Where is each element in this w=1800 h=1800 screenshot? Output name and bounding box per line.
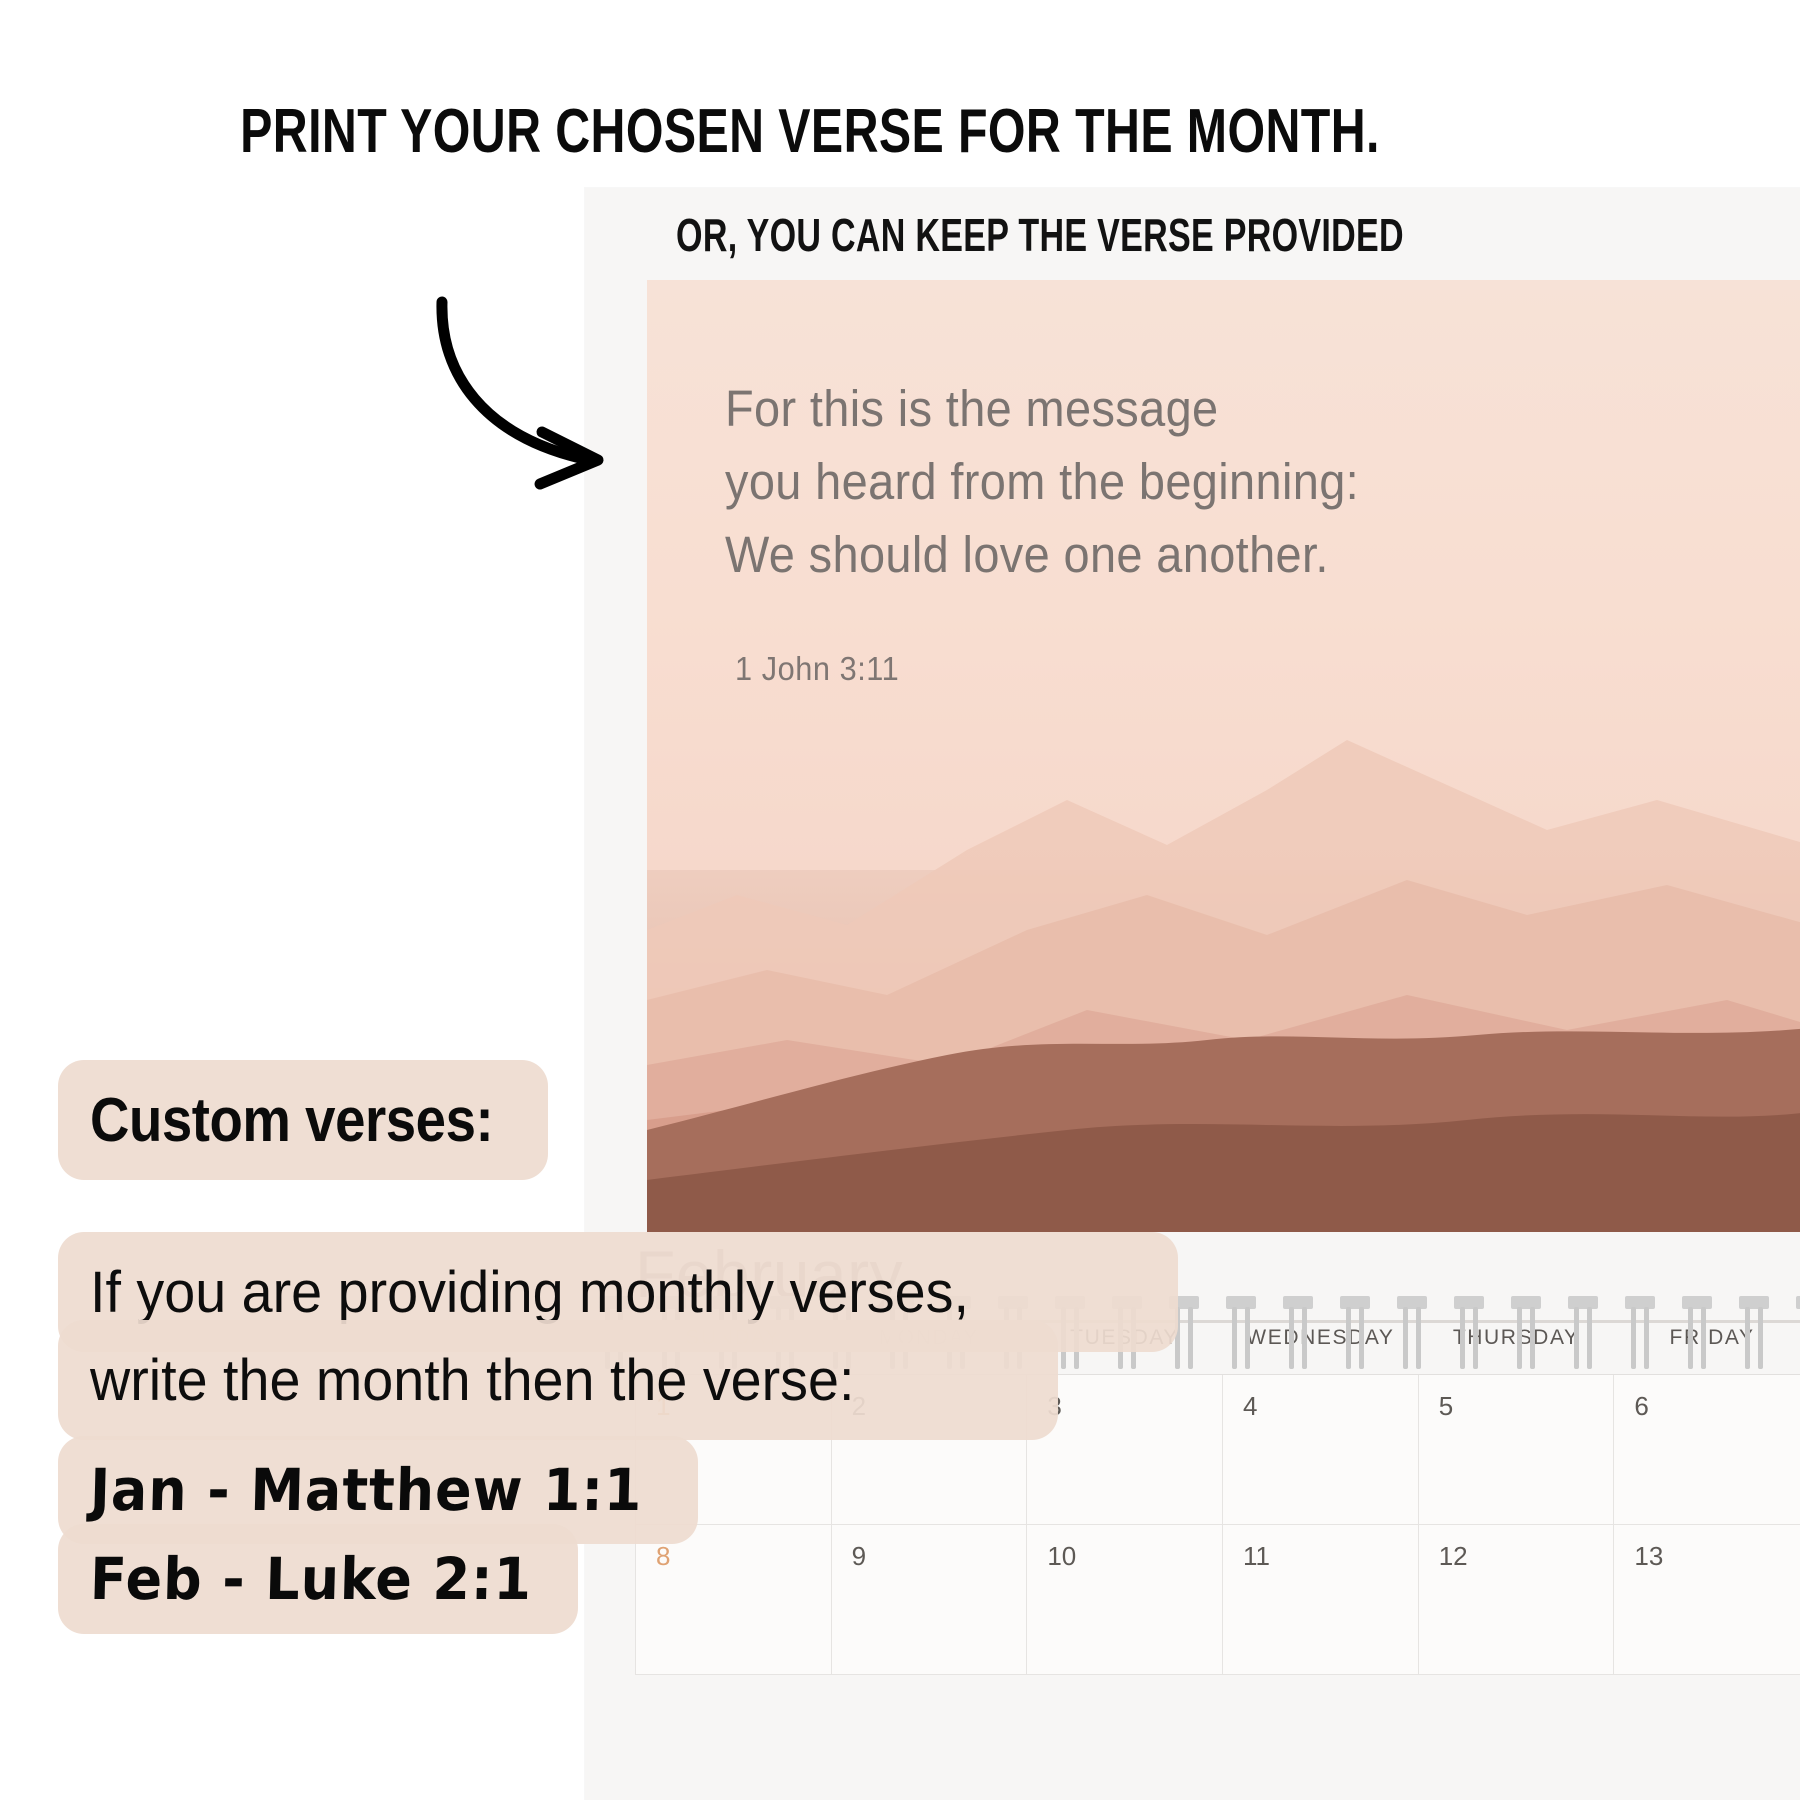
- calendar-day-cell[interactable]: 6: [1614, 1375, 1800, 1524]
- example-box-feb: Feb - Luke 2:1: [58, 1524, 578, 1634]
- calendar-day-cell[interactable]: 9: [832, 1525, 1028, 1674]
- poster-canvas: For this is the message you heard from t…: [0, 0, 1800, 1800]
- instruction-box-line-2: write the month then the verse:: [58, 1320, 1058, 1440]
- page-title: PRINT YOUR CHOSEN VERSE FOR THE MONTH.: [178, 96, 1442, 167]
- verse-line-3: We should love one another.: [725, 518, 1645, 591]
- calendar-sheet: For this is the message you heard from t…: [585, 188, 1800, 1800]
- calendar-day-cell[interactable]: 8: [635, 1525, 832, 1674]
- spiral-coil: [1454, 1290, 1484, 1372]
- verse-reference: 1 John 3:11: [735, 650, 899, 688]
- spiral-coil: [1739, 1290, 1769, 1372]
- calendar-week-row: 8910111213: [635, 1525, 1800, 1675]
- calendar-day-cell[interactable]: 11: [1223, 1525, 1419, 1674]
- spiral-coil: [1796, 1290, 1800, 1372]
- custom-verses-label-box: Custom verses:: [58, 1060, 548, 1180]
- verse-line-2: you heard from the beginning:: [725, 445, 1645, 518]
- verse-body: For this is the message you heard from t…: [725, 372, 1645, 591]
- calendar-day-cell[interactable]: 4: [1223, 1375, 1419, 1524]
- calendar-day-cell[interactable]: 5: [1419, 1375, 1615, 1524]
- spiral-coil: [1283, 1290, 1313, 1372]
- calendar-day-cell[interactable]: 10: [1027, 1525, 1223, 1674]
- spiral-coil: [1682, 1290, 1712, 1372]
- instruction-text-1: If you are providing monthly verses,: [90, 1259, 969, 1326]
- page-subtitle: OR, YOU CAN KEEP THE VERSE PROVIDED: [441, 208, 1640, 262]
- custom-verses-label: Custom verses:: [90, 1085, 493, 1156]
- spiral-coil: [1568, 1290, 1598, 1372]
- calendar-day-cell[interactable]: 13: [1614, 1525, 1800, 1674]
- calendar-day-cell[interactable]: 12: [1419, 1525, 1615, 1674]
- spiral-coil: [1511, 1290, 1541, 1372]
- spiral-coil: [1397, 1290, 1427, 1372]
- spiral-coil: [1340, 1290, 1370, 1372]
- curved-arrow-icon: [430, 280, 690, 500]
- example-text-jan: Jan - Matthew 1:1: [89, 1456, 643, 1524]
- spiral-coil: [1625, 1290, 1655, 1372]
- verse-photo-panel: For this is the message you heard from t…: [647, 280, 1800, 1232]
- example-text-feb: Feb - Luke 2:1: [89, 1545, 533, 1613]
- spiral-coil: [1226, 1290, 1256, 1372]
- instruction-text-2: write the month then the verse:: [90, 1347, 854, 1414]
- foreground-hills: [647, 980, 1800, 1232]
- verse-line-1: For this is the message: [725, 372, 1645, 445]
